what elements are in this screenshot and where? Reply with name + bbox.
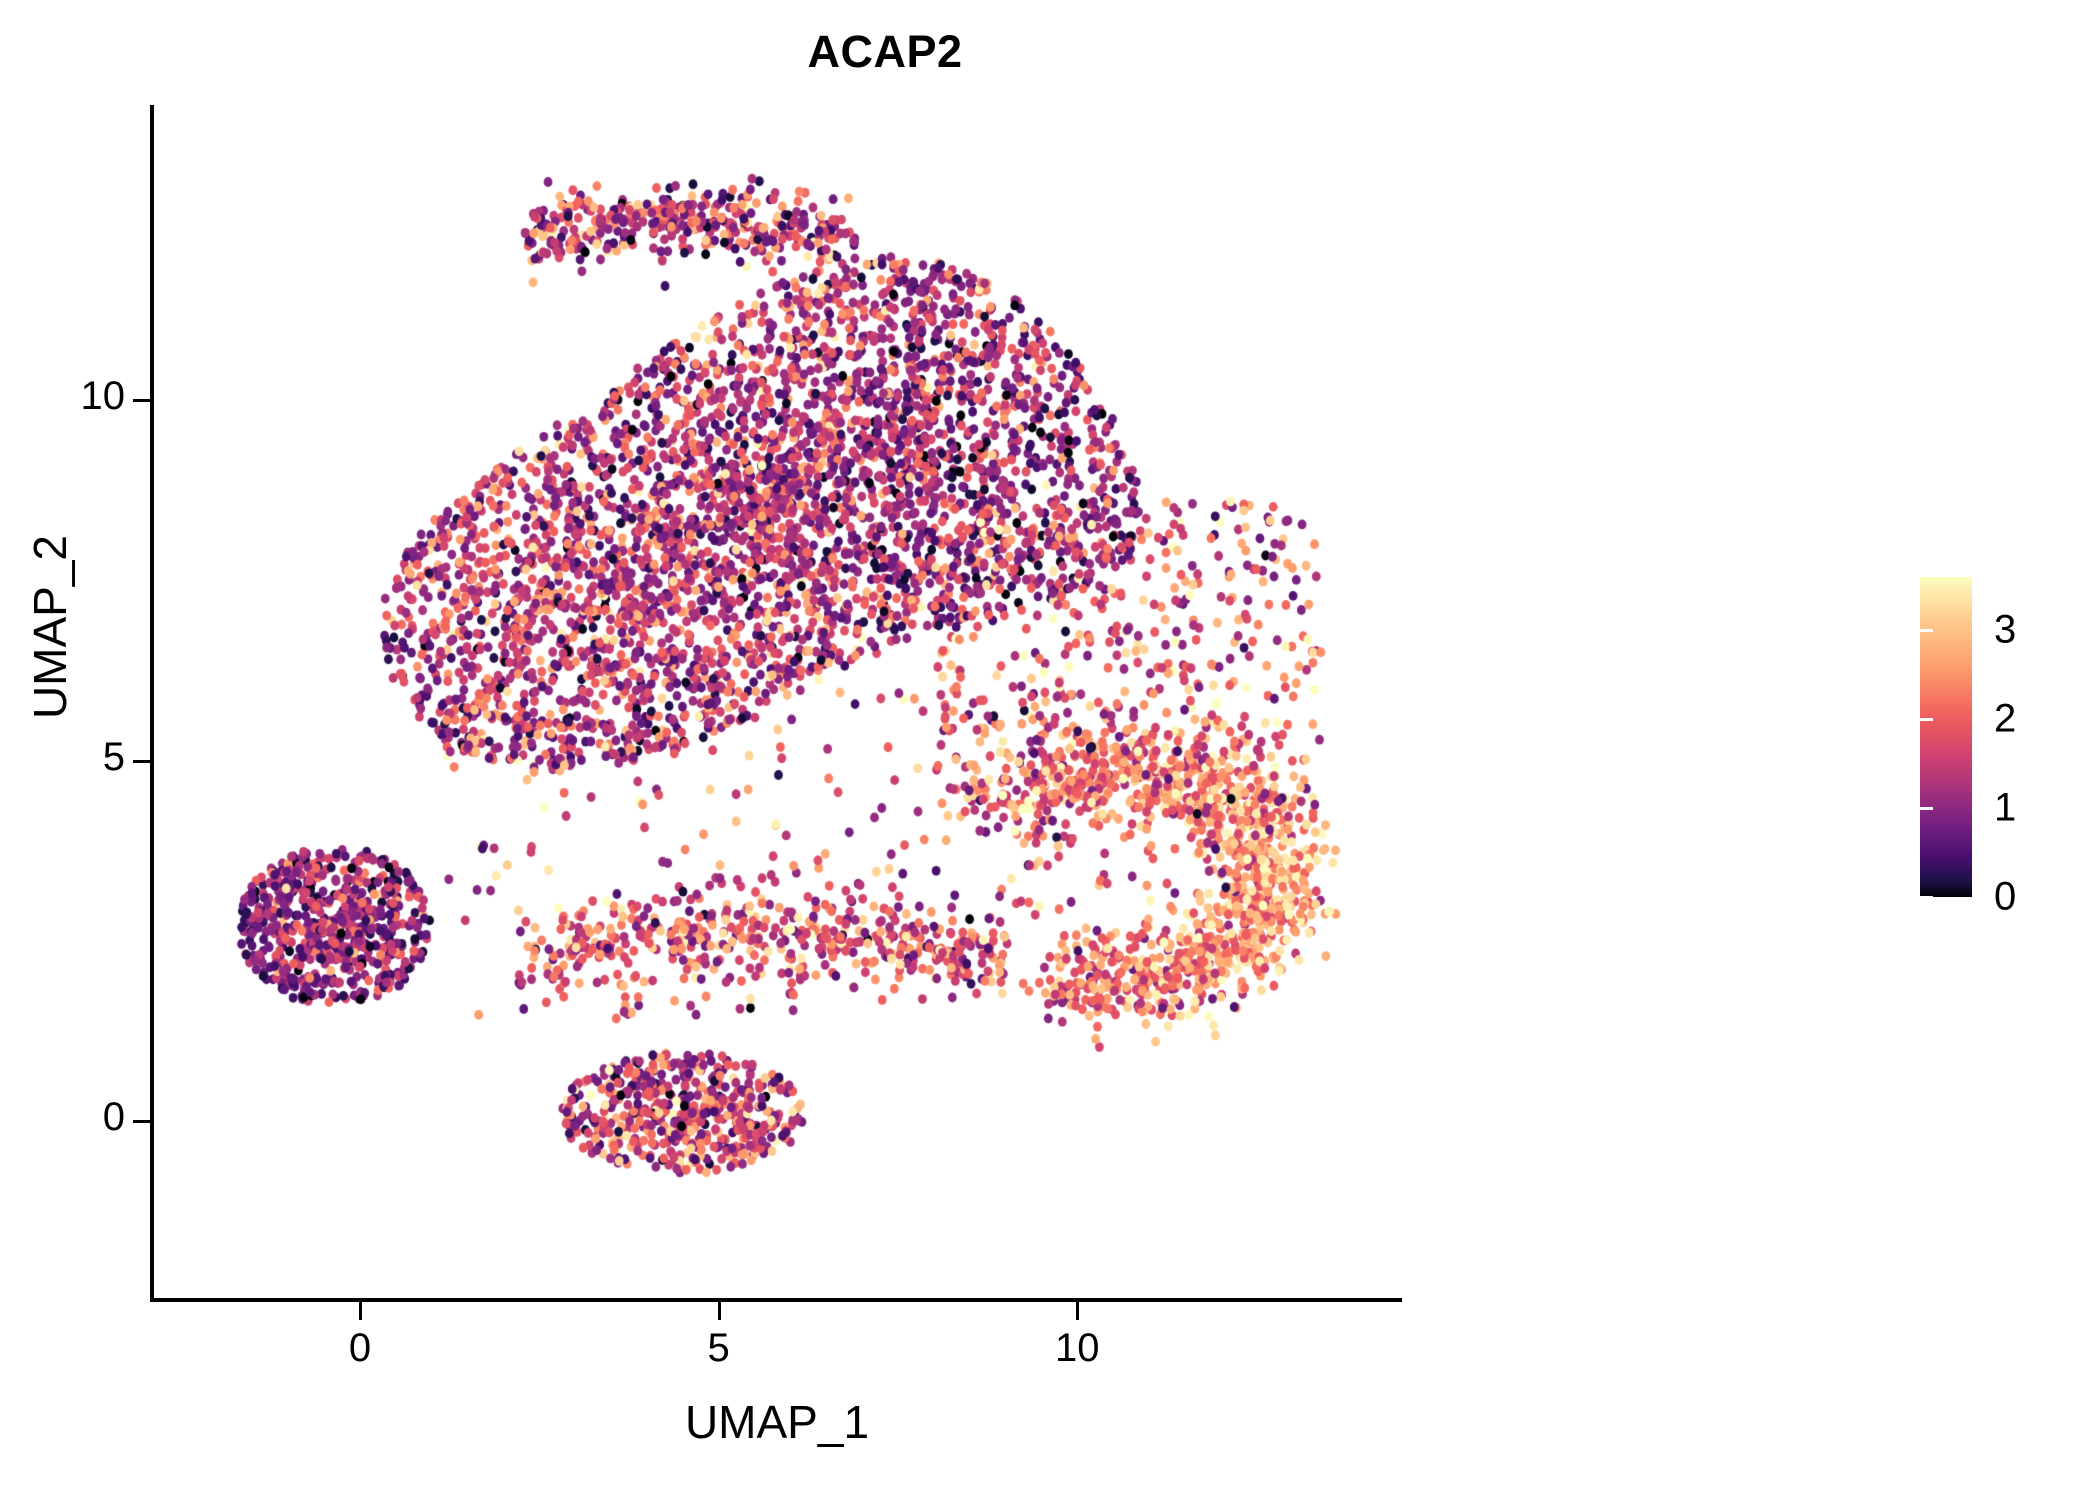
colorbar-tick-mark	[2077, 718, 2090, 721]
colorbar-tick-mark	[2077, 629, 2090, 632]
colorbar-tick-mark	[1920, 807, 1933, 810]
colorbar-gradient	[1920, 577, 1972, 897]
plot-panel	[152, 105, 1400, 1301]
colorbar-tick-mark	[2077, 807, 2090, 810]
colorbar-tick-mark	[1920, 629, 1933, 632]
chart-figure: ACAP2 05100510 UMAP_2 UMAP_1 0123	[0, 0, 2100, 1500]
x-tick-label: 0	[300, 1326, 420, 1371]
colorbar-tick-label: 0	[1994, 875, 2016, 920]
x-axis-title: UMAP_1	[152, 1395, 1402, 1449]
colorbar-tick-mark	[2077, 896, 2090, 899]
y-axis-title: UMAP_2	[23, 367, 77, 887]
colorbar-tick-mark	[1920, 718, 1933, 721]
x-tick-mark	[1076, 1302, 1079, 1320]
x-tick-label: 5	[659, 1326, 779, 1371]
x-tick-mark	[718, 1302, 721, 1320]
colorbar-tick-label: 2	[1994, 697, 2016, 742]
x-axis-line	[150, 1298, 1402, 1302]
y-tick-label: 0	[0, 1095, 125, 1140]
colorbar-tick-mark	[1920, 896, 1933, 899]
colorbar-tick-label: 1	[1994, 786, 2016, 831]
y-tick-mark	[133, 1120, 151, 1123]
colorbar-tick-label: 3	[1994, 608, 2016, 653]
color-legend: 0123	[1920, 577, 2090, 917]
x-tick-mark	[359, 1302, 362, 1320]
y-tick-mark	[133, 399, 151, 402]
scatter-plot-canvas	[152, 105, 1400, 1301]
y-tick-mark	[133, 760, 151, 763]
x-tick-label: 10	[1017, 1326, 1137, 1371]
chart-title: ACAP2	[0, 26, 1770, 78]
